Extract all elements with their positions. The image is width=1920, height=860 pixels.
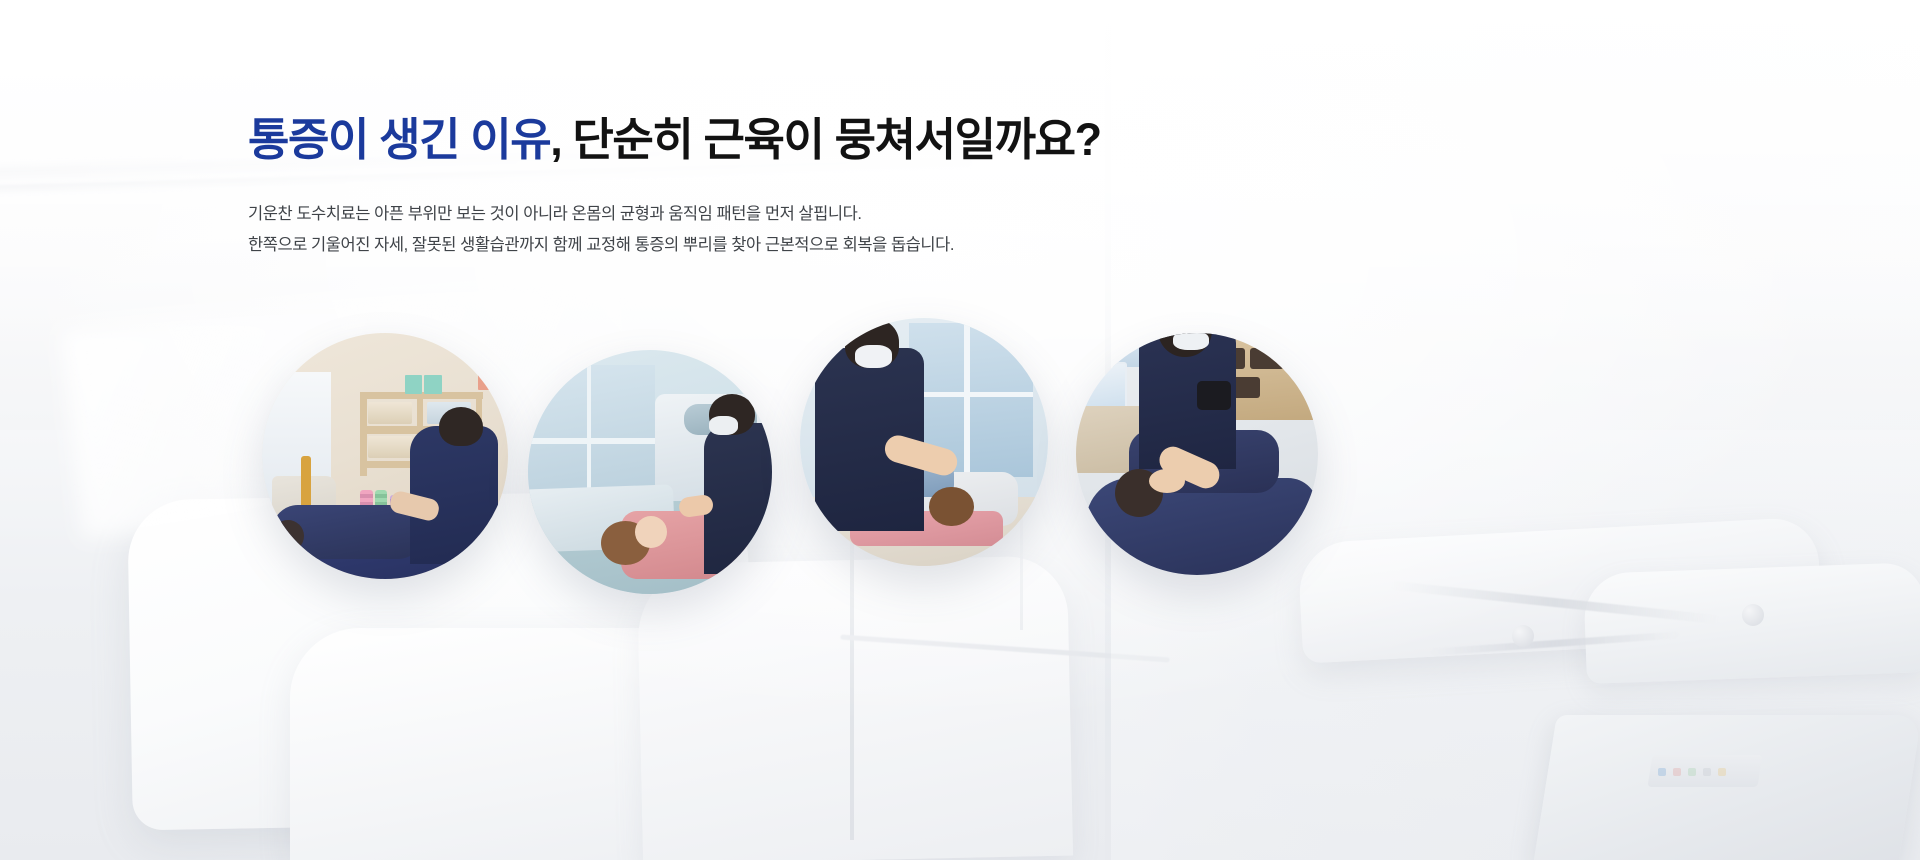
page-title: 통증이 생긴 이유, 단순히 근육이 뭉쳐서일까요? bbox=[248, 112, 1101, 168]
photo-3-image bbox=[800, 318, 1048, 566]
page-title-rest: , 단순히 근육이 뭉쳐서일까요? bbox=[550, 114, 1101, 165]
gallery-photo-3[interactable] bbox=[800, 318, 1048, 566]
gallery-photo-4[interactable] bbox=[1076, 333, 1318, 575]
photo-1-image bbox=[262, 333, 508, 579]
gallery-photo-2[interactable] bbox=[528, 350, 772, 594]
photo-4-image bbox=[1076, 333, 1318, 575]
subtitle-line-1: 기운찬 도수치료는 아픈 부위만 보는 것이 아니라 온몸의 균형과 움직임 패… bbox=[248, 200, 862, 224]
gallery-photo-1[interactable] bbox=[262, 333, 508, 579]
page-title-accent: 통증이 생긴 이유 bbox=[248, 114, 550, 165]
subtitle-line-2: 한쪽으로 기울어진 자세, 잘못된 생활습관까지 함께 교정해 통증의 뿌리를 … bbox=[248, 231, 954, 255]
photo-2-image bbox=[528, 350, 772, 594]
